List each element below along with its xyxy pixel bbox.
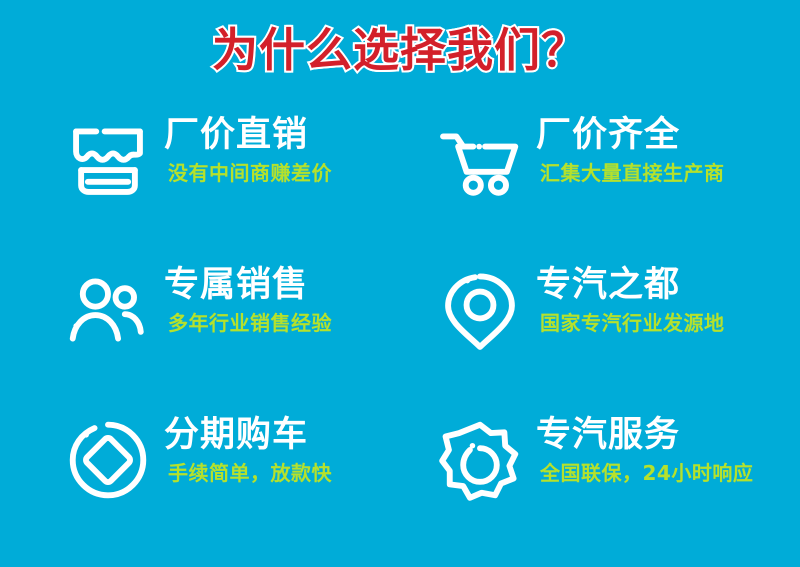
feature-subtitle: 国家专汽行业发源地 — [536, 312, 800, 335]
feature-text: 专汽之都 国家专汽行业发源地 — [536, 262, 800, 335]
feature-subtitle: 汇集大量直接生产商 — [536, 162, 800, 185]
feature-title: 专汽服务 — [536, 416, 800, 455]
promo-banner: 为什么选择我们？ 厂价直销 没有中间商赚差价 — [0, 0, 800, 567]
feature-item-installment-purchase[interactable]: 分期购车 手续简单，放款快 — [0, 412, 400, 562]
feature-text: 专属销售 多年行业销售经验 — [164, 262, 400, 335]
shopping-cart-icon — [434, 114, 526, 206]
feature-item-dedicated-sales[interactable]: 专属销售 多年行业销售经验 — [0, 262, 400, 412]
feature-item-factory-direct-sales[interactable]: 厂价直销 没有中间商赚差价 — [0, 112, 400, 262]
storefront-icon — [62, 114, 154, 206]
page-title: 为什么选择我们？ — [212, 24, 588, 77]
feature-title: 厂价齐全 — [536, 116, 800, 155]
feature-subtitle: 全国联保，24小时响应 — [536, 462, 800, 485]
location-pin-icon — [434, 264, 526, 356]
feature-text: 分期购车 手续简单，放款快 — [164, 412, 400, 485]
feature-subtitle: 没有中间商赚差价 — [164, 162, 400, 185]
feature-subtitle: 手续简单，放款快 — [164, 462, 400, 485]
diamond-in-circle-icon — [62, 414, 154, 506]
feature-text: 厂价直销 没有中间商赚差价 — [164, 112, 400, 185]
gear-icon — [434, 414, 526, 506]
feature-item-full-price-range[interactable]: 厂价齐全 汇集大量直接生产商 — [400, 112, 800, 262]
feature-text: 专汽服务 全国联保，24小时响应 — [536, 412, 800, 485]
feature-grid: 厂价直销 没有中间商赚差价 厂价齐全 汇集大量直接生产商 — [0, 112, 800, 552]
feature-title: 专属销售 — [164, 266, 400, 305]
feature-item-special-vehicle-capital[interactable]: 专汽之都 国家专汽行业发源地 — [400, 262, 800, 412]
feature-title: 厂价直销 — [164, 116, 400, 155]
feature-title: 专汽之都 — [536, 266, 800, 305]
feature-title: 分期购车 — [164, 416, 400, 455]
feature-item-special-vehicle-service[interactable]: 专汽服务 全国联保，24小时响应 — [400, 412, 800, 562]
title-container: 为什么选择我们？ — [0, 24, 800, 77]
feature-subtitle: 多年行业销售经验 — [164, 312, 400, 335]
two-people-icon — [62, 264, 154, 356]
feature-text: 厂价齐全 汇集大量直接生产商 — [536, 112, 800, 185]
